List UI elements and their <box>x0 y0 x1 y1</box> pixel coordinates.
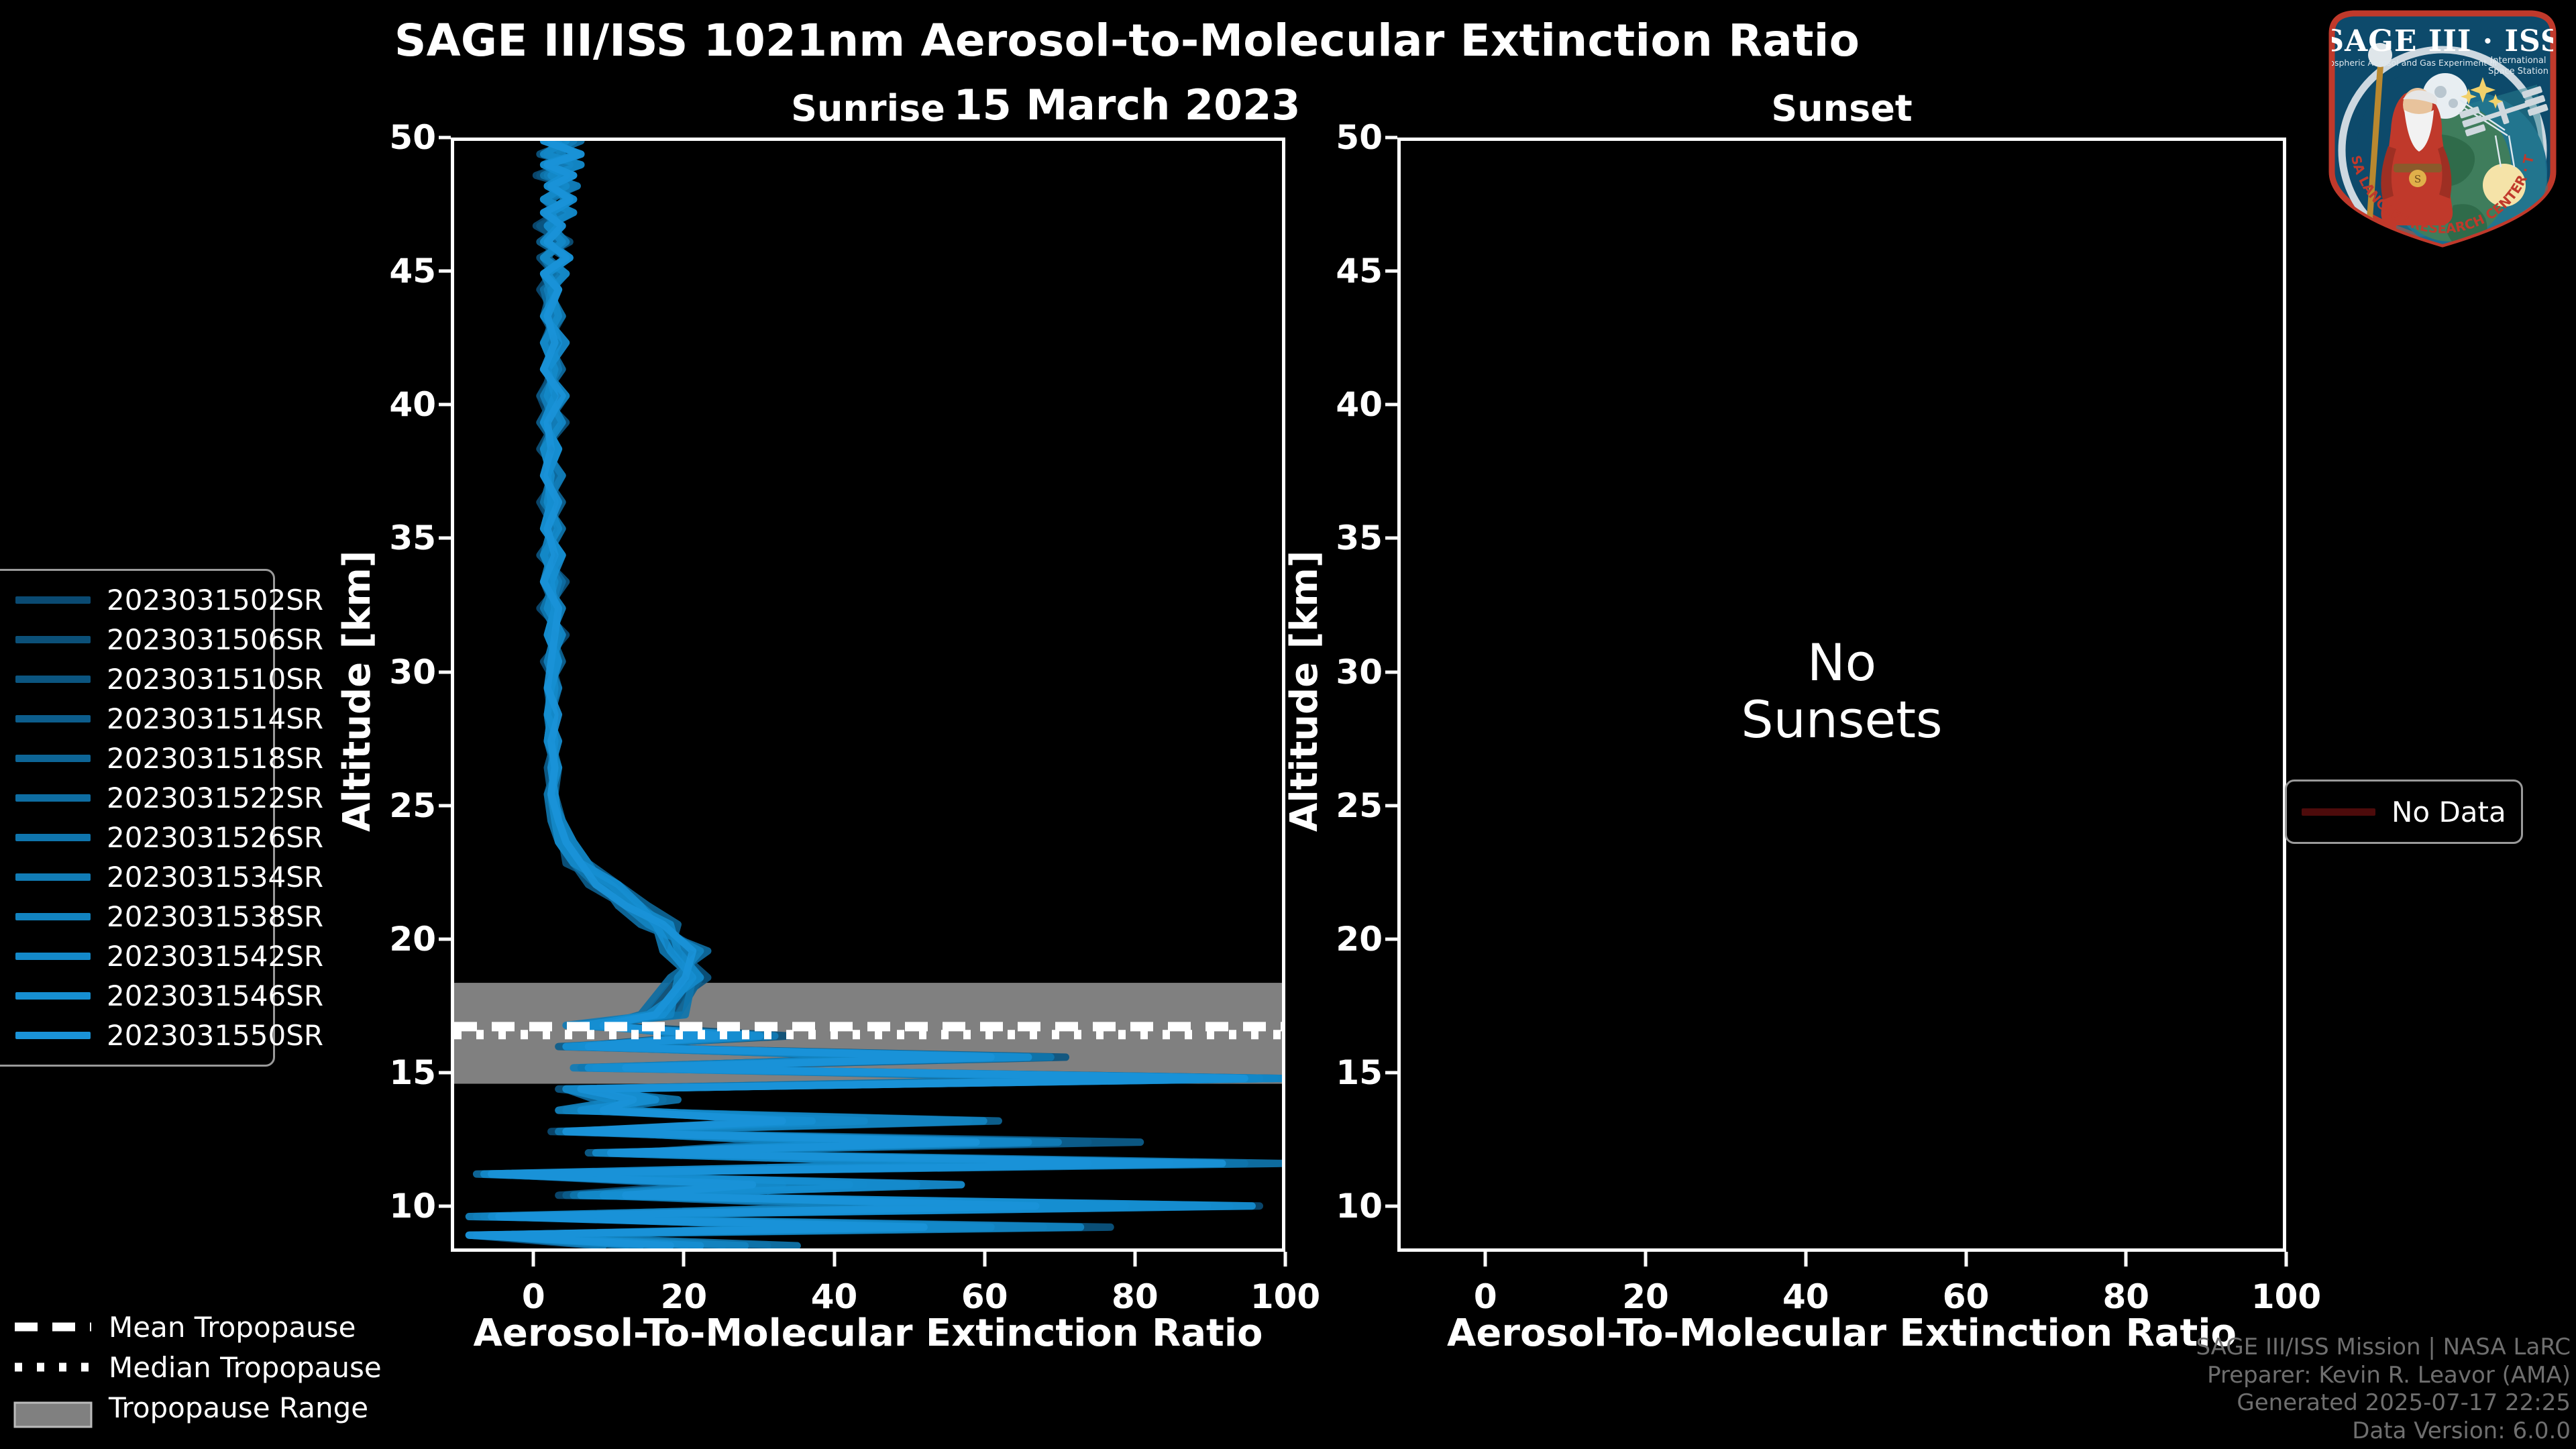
event-color-swatch <box>15 834 91 841</box>
x-axis-tick-mark <box>682 1252 686 1267</box>
y-axis-tick-label: 35 <box>389 519 436 557</box>
event-color-swatch <box>15 715 91 722</box>
x-axis-tick-label: 100 <box>2251 1277 2321 1316</box>
y-axis-tick-label: 20 <box>389 920 436 959</box>
legend-label-mean-tropopause: Mean Tropopause <box>109 1311 356 1344</box>
legend-label-event: 2023031510SR <box>107 663 323 696</box>
x-axis-tick-label: 40 <box>1782 1277 1829 1316</box>
legend-item-event[interactable]: 2023031514SR <box>15 699 262 739</box>
legend-item-event[interactable]: 2023031546SR <box>15 976 262 1016</box>
x-axis-tick-label: 20 <box>661 1277 708 1316</box>
y-axis-tickmarks-sunrise <box>439 138 451 1252</box>
legend-label-event: 2023031518SR <box>107 742 323 775</box>
plot-clip-sunrise <box>454 141 1282 1248</box>
x-axis-tick-mark <box>1644 1252 1648 1267</box>
x-axis-tick-mark <box>1484 1252 1487 1267</box>
y-axis-tick-label: 20 <box>1336 920 1383 959</box>
legend-item-tropopause-range: Tropopause Range <box>0 1387 382 1428</box>
y-axis-tick-label: 10 <box>389 1187 436 1226</box>
event-color-swatch <box>15 953 91 960</box>
credit-line-generated: Generated 2025-07-17 22:25 <box>2196 1389 2571 1417</box>
x-axis-tick-mark <box>1284 1252 1287 1267</box>
panel-title-sunset: Sunset <box>1397 87 2286 129</box>
x-axis-label-sunrise: Aerosol-To-Molecular Extinction Ratio <box>451 1311 1285 1355</box>
patch-subtitle-right-2: Space Station <box>2488 66 2548 76</box>
legend-item-event[interactable]: 2023031502SR <box>15 580 262 620</box>
dotted-line-icon <box>13 1360 93 1375</box>
x-axis-tick-label: 60 <box>1943 1277 1990 1316</box>
x-axis-tick-label: 80 <box>1112 1277 1159 1316</box>
legend-item-no-data: No Data <box>2302 791 2506 833</box>
legend-label-event: 2023031550SR <box>107 1019 323 1052</box>
y-axis-tick-label: 10 <box>1336 1187 1383 1226</box>
no-data-line-icon <box>2302 808 2375 816</box>
filled-band-icon <box>13 1400 93 1415</box>
credit-line-mission: SAGE III/ISS Mission | NASA LaRC <box>2196 1334 2571 1361</box>
legend-item-event[interactable]: 2023031506SR <box>15 620 262 659</box>
y-axis-tick-mark <box>1385 670 1397 674</box>
patch-subtitle-left: Stratospheric Aerosol and Gas Experiment… <box>2316 58 2497 68</box>
y-axis-tick-mark <box>439 670 451 674</box>
x-axis-tick-label: 0 <box>1474 1277 1497 1316</box>
x-axis-tick-mark <box>2285 1252 2288 1267</box>
y-axis-tick-mark <box>1385 270 1397 273</box>
legend-label-event: 2023031538SR <box>107 900 323 933</box>
event-color-swatch <box>15 1032 91 1039</box>
legend-tropopause: Mean Tropopause Median Tropopause Tropop… <box>0 1307 382 1428</box>
y-axis-label-sunrise: Altitude [km] <box>335 551 379 832</box>
y-axis-tick-mark <box>439 136 451 140</box>
y-axis-tick-mark <box>439 804 451 807</box>
patch-title: SAGE III · ISS <box>2322 24 2562 58</box>
legend-label-event: 2023031506SR <box>107 623 323 656</box>
y-axis-tick-mark <box>1385 403 1397 407</box>
credits-block: SAGE III/ISS Mission | NASA LaRC Prepare… <box>2196 1334 2571 1445</box>
y-axis-tick-mark <box>1385 804 1397 807</box>
y-axis-tick-label: 40 <box>389 385 436 424</box>
event-color-swatch <box>15 596 91 604</box>
y-axis-tick-mark <box>439 403 451 407</box>
no-sunsets-note: No Sunsets <box>1397 634 2286 748</box>
x-axis-tick-label: 40 <box>811 1277 858 1316</box>
y-axis-tick-label: 45 <box>389 252 436 290</box>
legend-item-event[interactable]: 2023031522SR <box>15 778 262 818</box>
legend-label-event: 2023031522SR <box>107 782 323 814</box>
legend-item-median-tropopause: Median Tropopause <box>0 1347 382 1387</box>
y-axis-tick-label: 50 <box>389 118 436 157</box>
credit-line-preparer: Preparer: Kevin R. Leavor (AMA) <box>2196 1362 2571 1389</box>
y-axis-tick-label: 30 <box>389 653 436 692</box>
x-axis-tick-mark <box>1133 1252 1136 1267</box>
y-axis-tick-label: 25 <box>1336 786 1383 825</box>
x-axis-tick-mark <box>532 1252 535 1267</box>
y-axis-tick-label: 45 <box>1336 252 1383 290</box>
y-axis-tick-label: 15 <box>389 1053 436 1092</box>
y-axis-tick-mark <box>1385 136 1397 140</box>
y-axis-tick-label: 35 <box>1336 519 1383 557</box>
event-color-swatch <box>15 873 91 881</box>
y-axis-tick-label: 30 <box>1336 653 1383 692</box>
legend-label-median-tropopause: Median Tropopause <box>109 1351 382 1384</box>
x-axis-label-sunset: Aerosol-To-Molecular Extinction Ratio <box>1397 1311 2286 1355</box>
no-sunsets-line1: No <box>1397 634 2286 691</box>
legend-label-no-data: No Data <box>2392 796 2506 828</box>
svg-text:S: S <box>2414 173 2421 185</box>
y-axis-tick-label: 25 <box>389 786 436 825</box>
legend-item-event[interactable]: 2023031534SR <box>15 857 262 897</box>
no-sunsets-line2: Sunsets <box>1397 691 2286 748</box>
x-axis-tick-label: 80 <box>2102 1277 2149 1316</box>
y-axis-tick-mark <box>1385 1205 1397 1208</box>
x-axis-tick-mark <box>983 1252 986 1267</box>
y-axis-tick-mark <box>439 937 451 941</box>
y-axis-tick-label: 50 <box>1336 118 1383 157</box>
legend-item-mean-tropopause: Mean Tropopause <box>0 1307 382 1347</box>
event-color-swatch <box>15 913 91 920</box>
legend-item-event[interactable]: 2023031550SR <box>15 1016 262 1055</box>
y-axis-tick-mark <box>439 270 451 273</box>
legend-label-event: 2023031514SR <box>107 702 323 735</box>
y-axis-tick-label: 40 <box>1336 385 1383 424</box>
event-color-swatch <box>15 676 91 683</box>
legend-label-event: 2023031534SR <box>107 861 323 894</box>
event-color-swatch <box>15 794 91 802</box>
legend-label-event: 2023031526SR <box>107 821 323 854</box>
patch-subtitle-right-1: International <box>2491 56 2546 66</box>
legend-item-event[interactable]: 2023031542SR <box>15 936 262 976</box>
legend-events[interactable]: 2023031502SR2023031506SR2023031510SR2023… <box>0 569 275 1067</box>
legend-item-event[interactable]: 2023031518SR <box>15 739 262 778</box>
page-title: SAGE III/ISS 1021nm Aerosol-to-Molecular… <box>0 15 2254 66</box>
event-color-swatch <box>15 636 91 643</box>
y-axis-tickmarks-sunset <box>1385 138 1397 1252</box>
legend-no-data[interactable]: No Data <box>2285 780 2523 844</box>
y-axis-tick-mark <box>439 1205 451 1208</box>
legend-label-event: 2023031502SR <box>107 584 323 616</box>
legend-item-event[interactable]: 2023031538SR <box>15 897 262 936</box>
legend-item-event[interactable]: 2023031526SR <box>15 818 262 857</box>
y-axis-label-sunset: Altitude [km] <box>1283 551 1326 832</box>
x-axis-tick-label: 0 <box>522 1277 545 1316</box>
legend-item-event[interactable]: 2023031510SR <box>15 659 262 699</box>
legend-label-event: 2023031546SR <box>107 979 323 1012</box>
event-color-swatch <box>15 992 91 1000</box>
x-axis-tick-label: 20 <box>1622 1277 1669 1316</box>
y-axis-tick-mark <box>1385 1071 1397 1075</box>
x-axis-tick-mark <box>833 1252 836 1267</box>
x-axis-tick-mark <box>1964 1252 1968 1267</box>
x-axis-tick-label: 60 <box>961 1277 1008 1316</box>
y-axis-tick-mark <box>1385 937 1397 941</box>
y-axis-tick-label: 15 <box>1336 1053 1383 1092</box>
y-axis-tick-mark <box>439 1071 451 1075</box>
legend-label-event: 2023031542SR <box>107 940 323 973</box>
sage-iii-iss-mission-patch-logo: S SAGE III · ISS Stratospheric Aerosol a… <box>2316 4 2569 252</box>
y-axis-tick-mark <box>1385 537 1397 540</box>
plot-area-sunrise <box>451 138 1285 1252</box>
x-axis-tick-mark <box>1804 1252 1807 1267</box>
x-axis-tick-label: 100 <box>1250 1277 1320 1316</box>
x-axis-tick-mark <box>2125 1252 2128 1267</box>
panel-title-sunrise: Sunrise <box>451 87 1285 129</box>
credit-line-data-version: Data Version: 6.0.0 <box>2196 1417 2571 1445</box>
legend-label-tropopause-range: Tropopause Range <box>109 1391 368 1424</box>
dashed-line-icon <box>13 1320 93 1334</box>
event-color-swatch <box>15 755 91 762</box>
y-axis-tick-mark <box>439 537 451 540</box>
sunrise-series-canvas <box>454 141 1282 1248</box>
